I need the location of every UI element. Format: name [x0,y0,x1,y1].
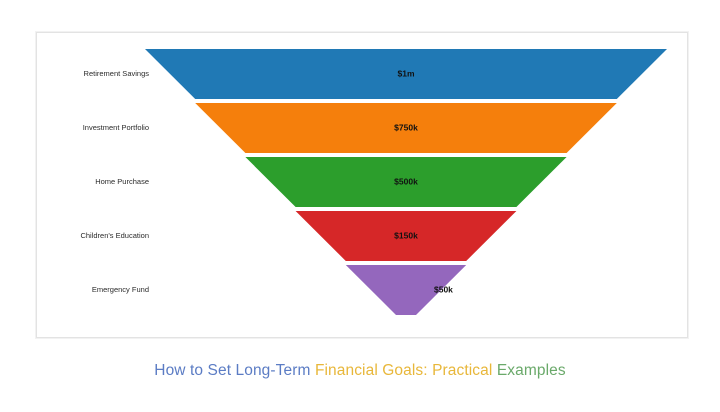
caption-part-3: Examples [497,362,566,379]
funnel-category-label: Retirement Savings [84,69,150,78]
funnel-category-labels: Retirement SavingsInvestment PortfolioHo… [80,69,149,294]
funnel-value-label: $1m [397,68,414,78]
funnel-category-label: Investment Portfolio [83,123,149,132]
funnel-value-label: $500k [394,176,418,186]
funnel-category-label: Home Purchase [95,177,149,186]
funnel-chart-svg: Retirement SavingsInvestment PortfolioHo… [37,33,689,339]
chart-page: Retirement SavingsInvestment PortfolioHo… [0,0,720,412]
funnel-category-label: Emergency Fund [92,285,149,294]
funnel-category-label: Children's Education [80,231,149,240]
funnel-value-label: $150k [394,230,418,240]
funnel-chart-frame: Retirement SavingsInvestment PortfolioHo… [36,32,688,338]
funnel-value-label: $750k [394,122,418,132]
caption-part-2: Financial Goals: Practical [315,362,492,379]
caption: How to Set Long-Term Financial Goals: Pr… [0,362,720,380]
funnel-value-label: $50k [434,284,453,294]
caption-part-1: How to Set Long-Term [154,362,310,379]
